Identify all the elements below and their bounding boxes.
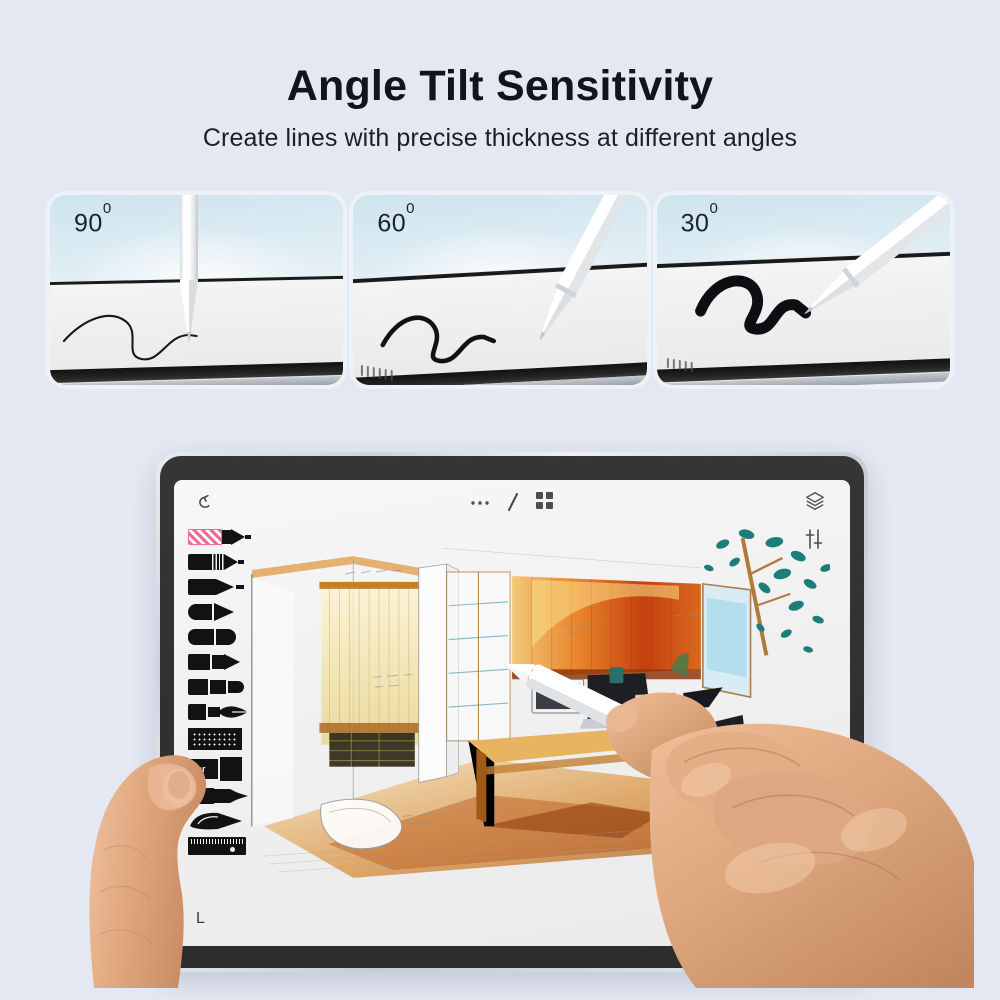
slash-pen-icon[interactable] <box>504 490 522 514</box>
grid-four-squares-icon[interactable] <box>536 492 554 510</box>
angle-card-60: 600 <box>353 195 646 385</box>
tool-calligraphy-nib[interactable] <box>188 701 252 723</box>
app-toolbar <box>174 480 850 526</box>
tool-marker-chisel[interactable] <box>188 626 252 648</box>
undo-arrow-icon[interactable] <box>196 492 218 514</box>
angle-label-30: 300 <box>681 209 719 238</box>
angle-card-30: 300 <box>657 195 950 385</box>
tablet-scene: ser <box>0 430 1000 1000</box>
page-subtitle: Create lines with precise thickness at d… <box>0 110 1000 153</box>
page-title: Angle Tilt Sensitivity <box>0 0 1000 110</box>
tool-brush-flat[interactable] <box>188 601 252 623</box>
tool-crayon[interactable] <box>188 676 252 698</box>
angle-cards-row: 900 <box>50 195 950 385</box>
layers-icon[interactable] <box>804 490 826 512</box>
angle-label-90: 900 <box>74 209 112 238</box>
angle-card-90: 900 <box>50 195 343 385</box>
tool-pencil[interactable] <box>188 651 252 673</box>
tool-marker-pink[interactable] <box>188 526 252 548</box>
stylus-90deg <box>176 195 202 341</box>
ellipsis-icon[interactable] <box>470 494 490 512</box>
angle-label-60: 600 <box>377 209 415 238</box>
right-hand <box>556 630 976 990</box>
stylus-30deg <box>777 195 950 365</box>
left-hand <box>86 730 246 990</box>
stylus-60deg <box>503 195 646 363</box>
tool-airbrush[interactable] <box>188 551 252 573</box>
marketing-page: Angle Tilt Sensitivity Create lines with… <box>0 0 1000 1000</box>
header: Angle Tilt Sensitivity Create lines with… <box>0 0 1000 153</box>
sliders-adjust-icon[interactable] <box>804 528 824 550</box>
tool-brush-round[interactable] <box>188 576 252 598</box>
